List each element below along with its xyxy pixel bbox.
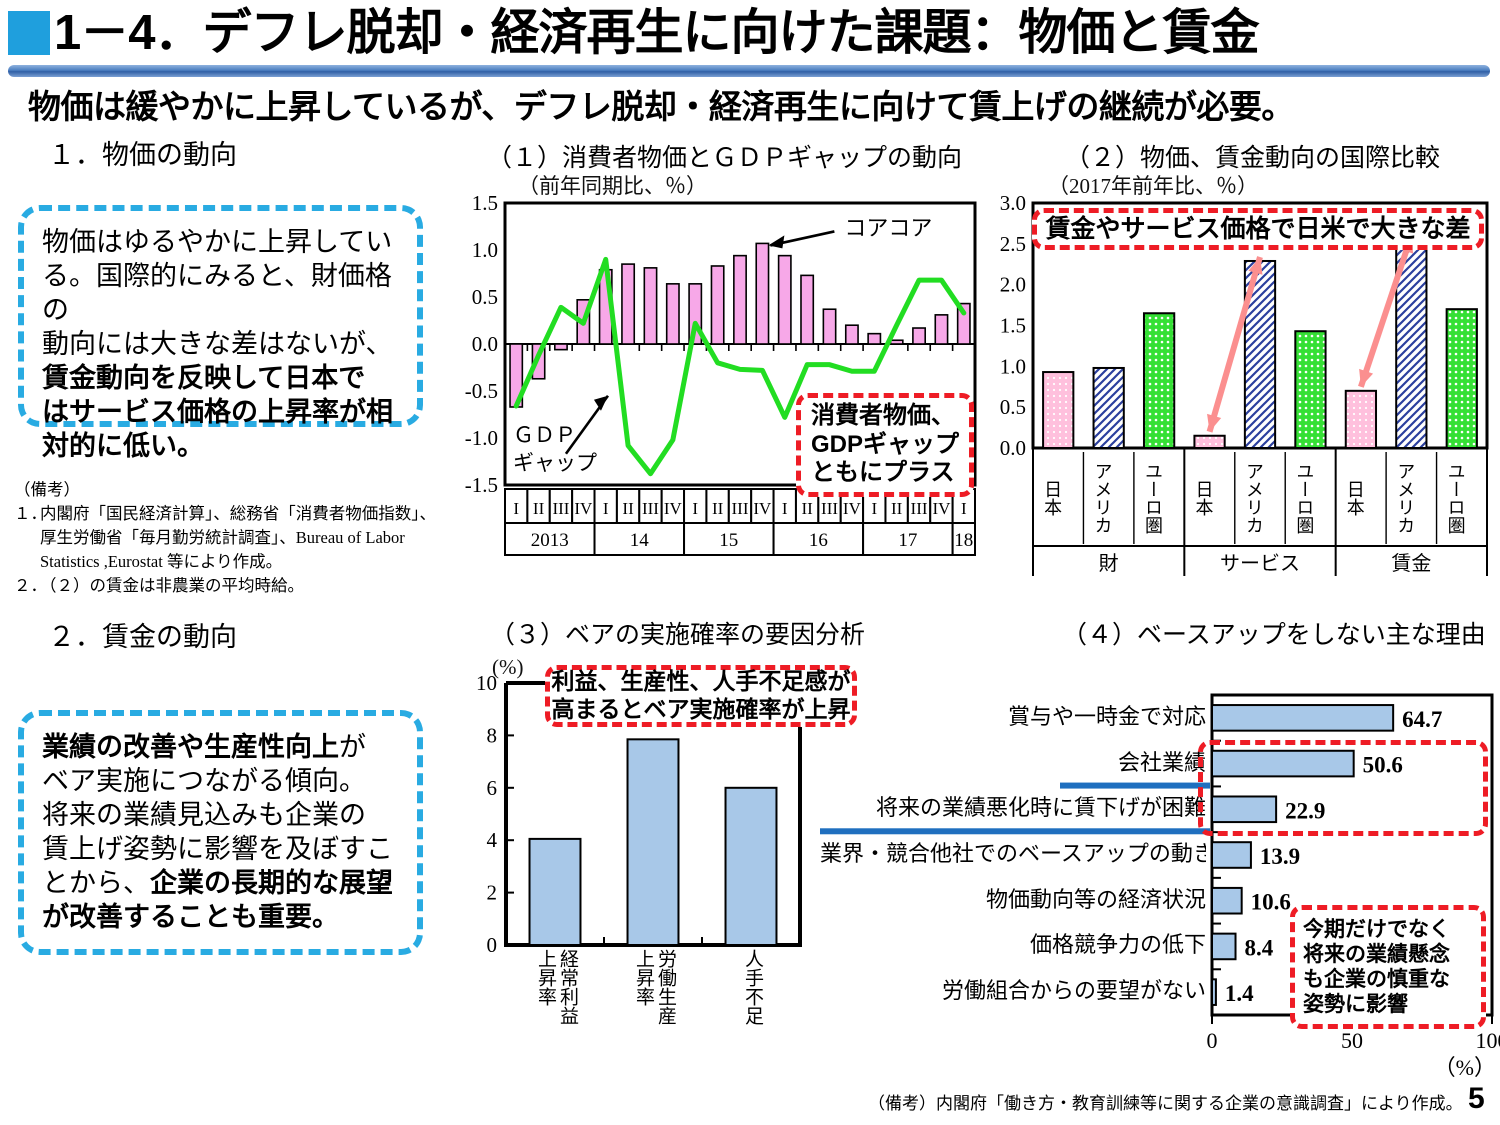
page-title: 1－4．デフレ脱却・経済再生に向けた課題：物価と賃金: [54, 9, 1259, 58]
chart4-category-label: 会社業績: [820, 745, 1206, 785]
chart1-corecore-label: コアコア: [844, 215, 932, 240]
chart1-quarter-label: II: [891, 499, 903, 518]
chart4-category-label: 業界・競合他社でのベースアップの動き: [820, 836, 1206, 876]
chart4-bar: [1212, 705, 1393, 731]
chart2-ytick: 1.0: [1000, 354, 1026, 378]
callout-prices-b2: はサービス価格の上昇率が相: [42, 397, 393, 427]
chart1-ytick: 1.0: [472, 238, 498, 262]
chart2-callout-text: 賃金やサービス価格で日米で大きな差: [1045, 214, 1470, 244]
chart1-year-label: 15: [719, 530, 738, 551]
chart1-ytick: 0.0: [472, 332, 498, 356]
chart1-quarter-label: I: [961, 499, 967, 518]
callout-wages-l5: とから、: [42, 868, 150, 898]
chart1-quarter-label: III: [552, 499, 569, 518]
chart2-group-label: サービス: [1220, 552, 1300, 575]
chart1-svg: 1.51.00.50.0-0.5-1.0-1.5コアコアＧＤＰギャップIIIII…: [455, 195, 985, 580]
title-divider: [8, 65, 1490, 77]
chart4-category-label: 物価動向等の経済状況: [820, 882, 1206, 922]
chart1-quarter-label: IV: [664, 499, 683, 518]
chart3-callout-line-1: 利益、生産性、人手不足感が: [552, 668, 851, 696]
chart3-title: （３）ベアの実施確率の要因分析: [490, 615, 865, 651]
note-text: （２）の賃金は非農業の平均時給。: [40, 574, 304, 598]
chart2-ytick: 3.0: [1000, 195, 1026, 215]
chart2-callout: 賃金やサービス価格で日米で大きな差: [1032, 208, 1484, 250]
slide-subtitle: 物価は緩やかに上昇しているが、デフレ脱却・経済再生に向けて賃上げの継続が必要。: [28, 80, 1294, 128]
chart1-year-label: 14: [630, 530, 650, 551]
chart4-value-label: 10.6: [1251, 890, 1291, 915]
chart2-title: （２）物価、賃金動向の国際比較: [1065, 138, 1440, 174]
chart1-quarter-label: IV: [932, 499, 951, 518]
chart4-bar: [1212, 979, 1216, 1005]
callout-wages-l4: 賃上げ姿勢に影響を及ぼすこ: [42, 832, 401, 866]
chart2-group-label: 財: [1099, 552, 1119, 575]
chart1-quarter-label: III: [732, 499, 749, 518]
chart2-category-label: アメリカ: [1395, 454, 1427, 542]
chart1-year-label: 18: [954, 530, 973, 551]
chart1-bar: [711, 266, 723, 344]
chart1-bar: [935, 315, 947, 344]
chart1-bar: [779, 256, 791, 344]
chart2-ytick: 0.0: [1000, 436, 1026, 460]
chart2-ytick: 0.5: [1000, 395, 1026, 419]
chart1-bar: [846, 325, 858, 344]
chart2-category-label: 日本: [1194, 454, 1226, 542]
callout-wages-l2: ベア実施につながる傾向。: [42, 764, 401, 798]
chart1-callout-line-3: ともにプラス: [811, 459, 955, 488]
chart2-category-label: 日本: [1042, 454, 1074, 542]
chart4-category-label: 労働組合からの要望がない: [820, 973, 1206, 1013]
chart4-unit: （%）: [1434, 1055, 1496, 1080]
chart4-value-label: 64.7: [1402, 707, 1442, 732]
chart1-quarter-label: IV: [843, 499, 862, 518]
chart1-quarter-label: IV: [753, 499, 772, 518]
chart4-category-underline: [1060, 783, 1210, 789]
chart2-bar: [1346, 391, 1376, 448]
chart1-quarter-label: I: [603, 499, 609, 518]
chart1-quarter-label: IV: [574, 499, 593, 518]
chart2-category-label: アメリカ: [1244, 454, 1276, 542]
chart1-ytick: 1.5: [472, 195, 498, 215]
chart1-bar: [913, 328, 925, 344]
notes-header: （備考）: [14, 478, 444, 502]
chart2-bar: [1043, 372, 1073, 448]
callout-prices-b1: 賃金動向を反映して日本で: [42, 363, 365, 393]
chart4-callout-line-2: 将来の業績懸念: [1303, 942, 1450, 967]
callout-prices-l1: 物価はゆるやかに上昇してい: [42, 225, 401, 259]
chart2-category-label: 日本: [1345, 454, 1377, 542]
chart4-callout-line-1: 今期だけでなく: [1303, 917, 1450, 942]
chart1-quarter-label: II: [801, 499, 813, 518]
chart1-bar: [734, 256, 746, 344]
chart4-callout-line-4: 姿勢に影響: [1303, 992, 1408, 1017]
section-heading-prices: １．物価の動向: [48, 133, 237, 172]
chart1-year-label: 16: [809, 530, 828, 551]
chart1-gdpgap-label-2: ギャップ: [513, 451, 597, 475]
notes-block: （備考） １． 内閣府「国民経済計算」、総務省「消費者物価指数」、厚生労働省「毎…: [14, 478, 444, 598]
chart4-value-label: 1.4: [1225, 981, 1254, 1006]
chart4-xtick: 100: [1476, 1028, 1500, 1053]
chart3-ytick: 4: [487, 828, 498, 852]
chart3-ytick: 10: [476, 671, 497, 695]
chart3-ytick: 8: [487, 723, 498, 747]
chart4-bar: [1212, 888, 1242, 914]
chart1-quarter-label: II: [622, 499, 634, 518]
chart2-bar: [1194, 436, 1224, 448]
chart4-callout: 今期だけでなく将来の業績懸念も企業の慎重な姿勢に影響: [1290, 905, 1486, 1029]
chart1-year-label: 2013: [531, 530, 569, 551]
chart2-category-label: ユーロ圏: [1143, 454, 1175, 542]
chart4-category-label: 価格競争力の低下: [820, 927, 1206, 967]
callout-prices-l2: る。国際的にみると、財価格の: [42, 259, 401, 327]
chart3-callout-line-2: 高まるとベア実施確率が上昇: [552, 696, 851, 724]
callout-wages-b1: 業績の改善や生産性向上: [42, 732, 339, 762]
chart4-category-underline: [820, 828, 1210, 834]
chart1-title: （１）消費者物価とＧＤＰギャップの動向: [487, 138, 962, 174]
chart3-category-label: 経常利益上昇率: [525, 949, 587, 1063]
chart4-footnote: （備考）内閣府「働き方・教育訓練等に関する企業の意識調査」により作成。: [868, 1089, 1463, 1114]
chart1-quarter-label: III: [642, 499, 659, 518]
chart2-ytick: 2.0: [1000, 273, 1026, 297]
chart1-year-label: 17: [898, 530, 917, 551]
chart3-category-label: 人手不足: [721, 949, 783, 1063]
chart2-bar: [1295, 331, 1325, 448]
chart1-bar: [555, 344, 567, 350]
chart1-callout: 消費者物価、GDPギャップともにプラス: [796, 393, 974, 497]
chart1-bar: [801, 275, 813, 344]
chart2-bar: [1094, 368, 1124, 448]
title-bullet-square: [8, 11, 50, 55]
chart4-category-label: 将来の業績悪化時に賃下げが困難: [820, 790, 1206, 830]
chart4-callout-line-3: も企業の慎重な: [1303, 967, 1450, 992]
chart2-category-label: アメリカ: [1093, 454, 1125, 542]
chart1-quarter-label: I: [782, 499, 788, 518]
chart2-bar: [1144, 313, 1174, 448]
chart1-ytick: -1.5: [465, 473, 498, 497]
chart1-ytick: 0.5: [472, 285, 498, 309]
chart2-category-label: ユーロ圏: [1446, 454, 1478, 542]
callout-wages-b2: 企業の長期的な展望: [150, 868, 393, 898]
chart4-value-label: 13.9: [1260, 844, 1300, 869]
chart2: 3.02.52.01.51.00.50.0日本アメリカユーロ圏日本アメリカユーロ…: [985, 195, 1495, 580]
chart3-bar: [628, 739, 679, 945]
callout-wages: 業績の改善や生産性向上が ベア実施につながる傾向。 将来の業績見込みも企業の 賃…: [18, 710, 423, 955]
callout-prices: 物価はゆるやかに上昇してい る。国際的にみると、財価格の 動向には大きな差はない…: [18, 205, 423, 427]
chart1-gdpgap-label-1: ＧＤＰ: [513, 423, 576, 447]
chart3-ytick: 0: [487, 933, 498, 957]
callout-wages-l1: が: [339, 732, 366, 762]
chart2-ytick: 2.5: [1000, 232, 1026, 256]
chart2-category-label: ユーロ圏: [1294, 454, 1326, 542]
chart3-ytick: 6: [487, 776, 498, 800]
chart2-bar: [1447, 309, 1477, 448]
callout-prices-l3: 動向には大きな差はないが、: [42, 327, 401, 361]
page-number: 5: [1468, 1082, 1485, 1116]
note-item: １． 内閣府「国民経済計算」、総務省「消費者物価指数」、厚生労働省「毎月勤労統計…: [14, 502, 444, 574]
chart1-quarter-label: II: [533, 499, 545, 518]
chart2-svg: 3.02.52.01.51.00.50.0日本アメリカユーロ圏日本アメリカユーロ…: [985, 195, 1495, 580]
chart2-ytick: 1.5: [1000, 314, 1026, 338]
chart1-quarter-label: I: [692, 499, 698, 518]
chart1-quarter-label: I: [871, 499, 877, 518]
note-text: 内閣府「国民経済計算」、総務省「消費者物価指数」、厚生労働省「毎月勤労統計調査」…: [40, 502, 444, 574]
chart1-bar: [756, 243, 768, 344]
note-item: ２． （２）の賃金は非農業の平均時給。: [14, 574, 444, 598]
chart3-bar: [726, 788, 777, 945]
chart1-quarter-label: I: [513, 499, 519, 518]
callout-wages-l3: 将来の業績見込みも企業の: [42, 798, 401, 832]
chart1-quarter-label: III: [911, 499, 928, 518]
chart4-bar: [1212, 934, 1236, 960]
callout-prices-b3: 対的に低い。: [42, 431, 204, 461]
chart3-ytick: 2: [487, 881, 498, 905]
chart2-group-label: 賃金: [1391, 552, 1431, 575]
chart1-bar: [644, 268, 656, 344]
chart1-quarter-label: III: [821, 499, 838, 518]
chart1-callout-line-2: GDPギャップ: [811, 431, 959, 460]
chart4-category-label: 賞与や一時金で対応: [820, 699, 1206, 739]
chart3-callout: 利益、生産性、人手不足感が高まるとベア実施確率が上昇: [545, 665, 857, 727]
chart1-bar: [667, 284, 679, 344]
chart1-bar: [823, 309, 835, 344]
note-number: １．: [14, 502, 40, 574]
chart3-bar: [530, 839, 581, 945]
chart1-bar: [622, 264, 634, 344]
chart1-ytick: -0.5: [465, 379, 498, 403]
chart3-category-label: 労働生産上昇率: [623, 949, 685, 1063]
chart4-title: （４）ベースアップをしない主な理由: [1062, 615, 1486, 651]
chart4-value-label: 8.4: [1245, 935, 1274, 960]
chart4-xtick: 50: [1341, 1028, 1363, 1053]
chart4-xtick: 0: [1207, 1028, 1218, 1053]
chart4-bar: [1212, 842, 1251, 868]
note-number: ２．: [14, 574, 40, 598]
chart1-quarter-label: II: [712, 499, 724, 518]
chart4-highlight-box: [1198, 740, 1488, 836]
chart1-ytick: -1.0: [465, 426, 498, 450]
chart1-bar: [891, 340, 903, 344]
chart1-bar: [868, 334, 880, 344]
chart1-callout-line-1: 消費者物価、: [811, 402, 955, 431]
callout-wages-b3: が改善することも重要。: [42, 902, 339, 932]
section-heading-wages: ２．賃金の動向: [48, 615, 237, 654]
chart1: 1.51.00.50.0-0.5-1.0-1.5コアコアＧＤＰギャップIIIII…: [455, 195, 985, 580]
slide-title-bar: 1－4．デフレ脱却・経済再生に向けた課題：物価と賃金: [0, 2, 1500, 64]
